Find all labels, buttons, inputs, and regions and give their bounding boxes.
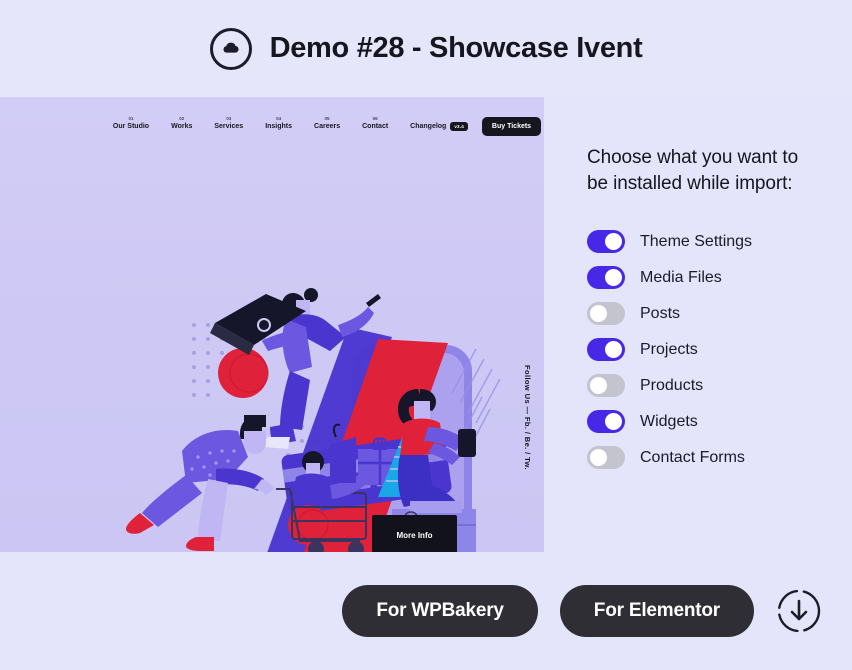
more-info-button[interactable]: More Info	[372, 515, 457, 552]
option-row-theme-settings[interactable]: Theme Settings	[587, 229, 852, 255]
panel-heading: Choose what you want to be installed whi…	[587, 145, 802, 197]
preview-follow-us[interactable]: Follow Us — Fb. / Be. / Tw.	[523, 365, 532, 470]
toggle-projects[interactable]	[587, 338, 625, 361]
toggle-contact-forms[interactable]	[587, 446, 625, 469]
option-label: Products	[640, 377, 703, 395]
option-label: Contact Forms	[640, 449, 745, 467]
page-title: Demo #28 - Showcase Ivent	[270, 32, 643, 65]
toggle-products[interactable]	[587, 374, 625, 397]
option-row-media-files[interactable]: Media Files	[587, 265, 852, 291]
option-label: Widgets	[640, 413, 698, 431]
cloud-circle-icon	[210, 28, 252, 70]
for-elementor-button[interactable]: For Elementor	[560, 585, 754, 637]
toggle-widgets[interactable]	[587, 410, 625, 433]
option-row-posts[interactable]: Posts	[587, 301, 852, 327]
option-label: Projects	[640, 341, 698, 359]
option-label: Theme Settings	[640, 233, 752, 251]
app-header: Demo #28 - Showcase Ivent	[0, 0, 852, 97]
import-options-panel: Choose what you want to be installed whi…	[545, 97, 852, 552]
toggle-theme-settings[interactable]	[587, 230, 625, 253]
preview-illustration	[0, 97, 544, 552]
toggle-media-files[interactable]	[587, 266, 625, 289]
option-row-projects[interactable]: Projects	[587, 337, 852, 363]
for-wpbakery-button[interactable]: For WPBakery	[342, 585, 537, 637]
toggle-posts[interactable]	[587, 302, 625, 325]
option-row-widgets[interactable]: Widgets	[587, 409, 852, 435]
demo-preview[interactable]: 01 Our Studio 02 Works 03 Services 04 In…	[0, 97, 544, 552]
option-label: Media Files	[640, 269, 722, 287]
import-options-list: Theme Settings Media Files Posts Project…	[587, 229, 852, 471]
option-row-contact-forms[interactable]: Contact Forms	[587, 445, 852, 471]
option-row-products[interactable]: Products	[587, 373, 852, 399]
download-circle-icon[interactable]	[776, 588, 822, 634]
app-root: Demo #28 - Showcase Ivent	[0, 0, 852, 670]
action-footer: For WPBakery For Elementor	[0, 552, 852, 670]
option-label: Posts	[640, 305, 680, 323]
